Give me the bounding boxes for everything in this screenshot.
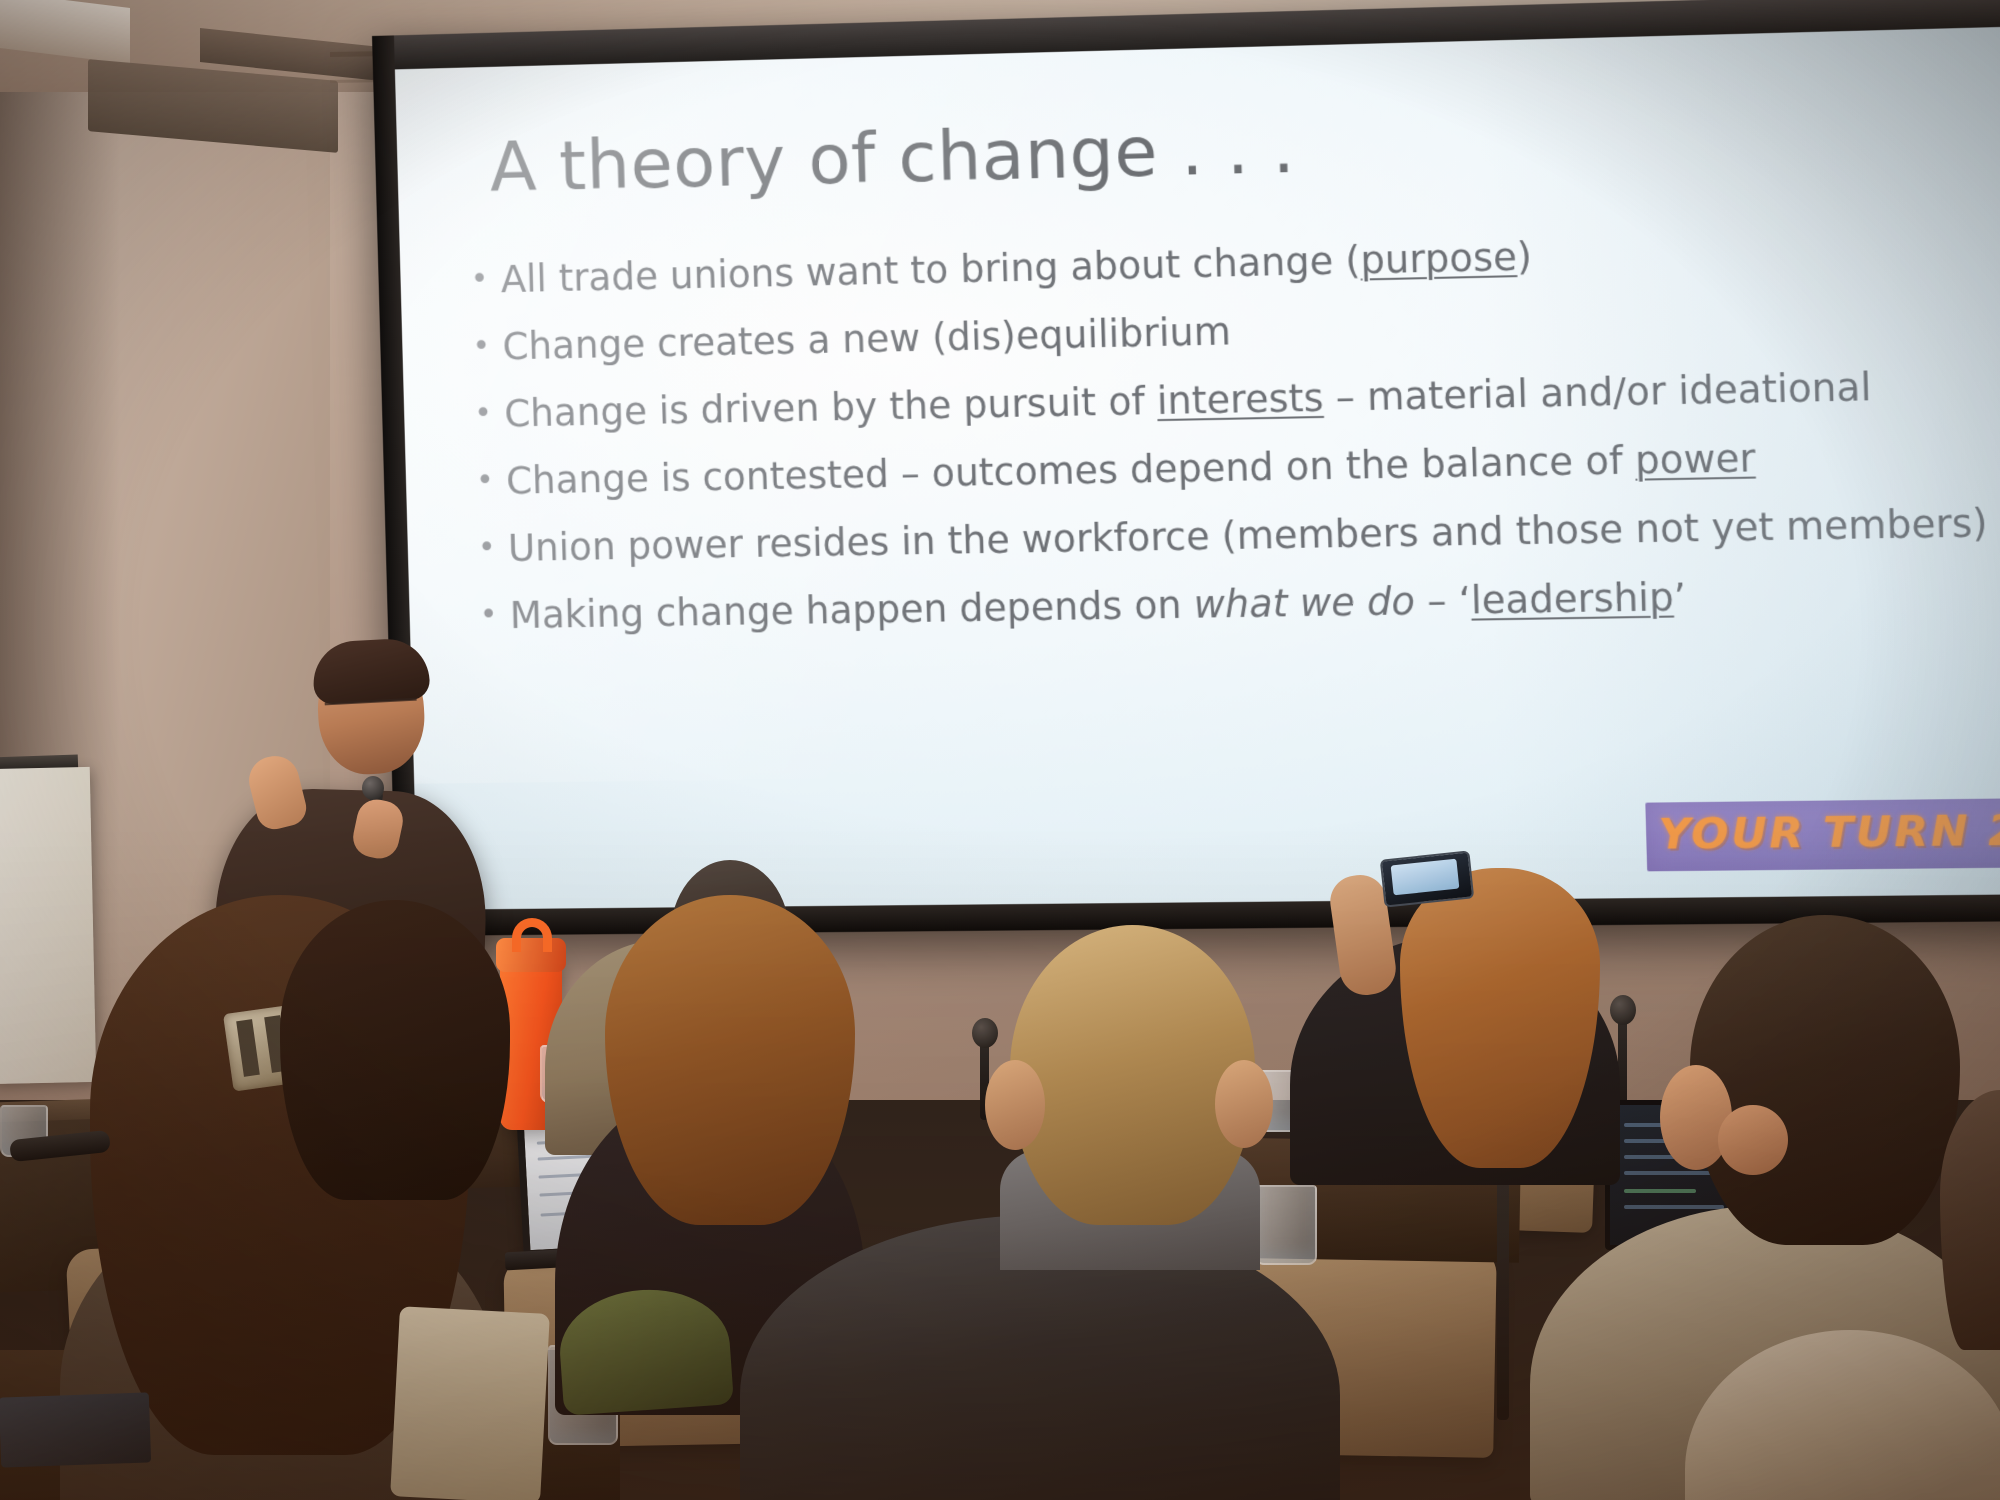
- bullet-leadership-text: Making change happen depends on what we …: [509, 569, 2000, 640]
- bullet-marker-icon: •: [470, 257, 501, 301]
- seg-text: All trade unions want to bring about cha…: [500, 239, 1361, 302]
- flipchart-easel: [0, 767, 96, 1084]
- monitor-content-line: [1624, 1189, 1696, 1193]
- slide-title: A theory of change . . .: [489, 109, 1296, 208]
- bullet-workforce: • Union power resides in the workforce (…: [477, 500, 2000, 574]
- monitor-content-line: [1624, 1205, 1724, 1209]
- ear: [985, 1060, 1045, 1150]
- bullet-disequilibrium-text: Change creates a new (dis)equilibrium: [502, 292, 2000, 371]
- seg-underline: power: [1635, 436, 1756, 482]
- hand: [1718, 1105, 1788, 1175]
- drinking-glass: [1255, 1185, 1317, 1265]
- microphone-head-icon: [362, 776, 384, 800]
- seg-underline: interests: [1156, 376, 1324, 423]
- seg-italic: what we do: [1193, 580, 1415, 627]
- seg-underline: purpose: [1360, 235, 1518, 282]
- seg-text: Making change happen depends on: [509, 583, 1194, 637]
- water-bottle-handle: [512, 918, 552, 952]
- your-turn-badge: YOUR TURN 2: [1646, 798, 2000, 871]
- bullet-power: • Change is contested – outcomes depend …: [476, 431, 2000, 507]
- audience-member-hair: [1400, 868, 1600, 1168]
- floor-microphone-stand: [1497, 1160, 1509, 1420]
- presentation-slide: A theory of change . . . • All trade uni…: [395, 26, 2000, 910]
- bullet-purpose: • All trade unions want to bring about c…: [470, 223, 2000, 305]
- bullet-purpose-text: All trade unions want to bring about cha…: [500, 223, 2000, 304]
- seg-underline: leadership: [1470, 575, 1674, 622]
- audience-member-hair: [1690, 915, 1960, 1245]
- bullet-marker-icon: •: [476, 459, 507, 503]
- seg-text: Change is driven by the pursuit of: [504, 379, 1158, 435]
- seg-text: – material and/or ideational: [1323, 365, 1872, 420]
- audience-member-hair: [280, 900, 510, 1200]
- bullet-interests: • Change is driven by the pursuit of int…: [474, 361, 2000, 439]
- bullet-marker-icon: •: [474, 391, 505, 435]
- your-turn-label: YOUR TURN 2: [1658, 808, 2000, 859]
- ear: [1215, 1060, 1273, 1148]
- audience-member-head: [1010, 925, 1255, 1225]
- audience-member-hair: [605, 895, 855, 1225]
- bullet-marker-icon: •: [479, 593, 510, 637]
- bullet-leadership: • Making change happen depends on what w…: [479, 569, 2000, 641]
- notebook: [0, 1392, 151, 1467]
- seg-text: – ‘: [1414, 579, 1471, 624]
- bullet-workforce-text: Union power resides in the workforce (me…: [507, 500, 2000, 573]
- paper-bag: [390, 1306, 550, 1500]
- bullet-interests-text: Change is driven by the pursuit of inter…: [504, 361, 2000, 438]
- conference-room-photo: A theory of change . . . • All trade uni…: [0, 0, 2000, 1500]
- bullet-power-text: Change is contested – outcomes depend on…: [506, 431, 2000, 506]
- seg-text: Change is contested – outcomes depend on…: [506, 439, 1636, 503]
- slide-bullet-list: • All trade unions want to bring about c…: [470, 223, 2000, 660]
- microphone-head-icon: [972, 1018, 998, 1048]
- bullet-disequilibrium: • Change creates a new (dis)equilibrium: [472, 292, 2000, 372]
- bullet-marker-icon: •: [472, 324, 503, 368]
- projection-screen: A theory of change . . . • All trade uni…: [372, 0, 2000, 936]
- seg-text: ): [1516, 235, 1532, 279]
- microphone-head-icon: [1610, 995, 1636, 1025]
- bullet-marker-icon: •: [477, 526, 508, 570]
- seg-text: ’: [1673, 575, 1687, 619]
